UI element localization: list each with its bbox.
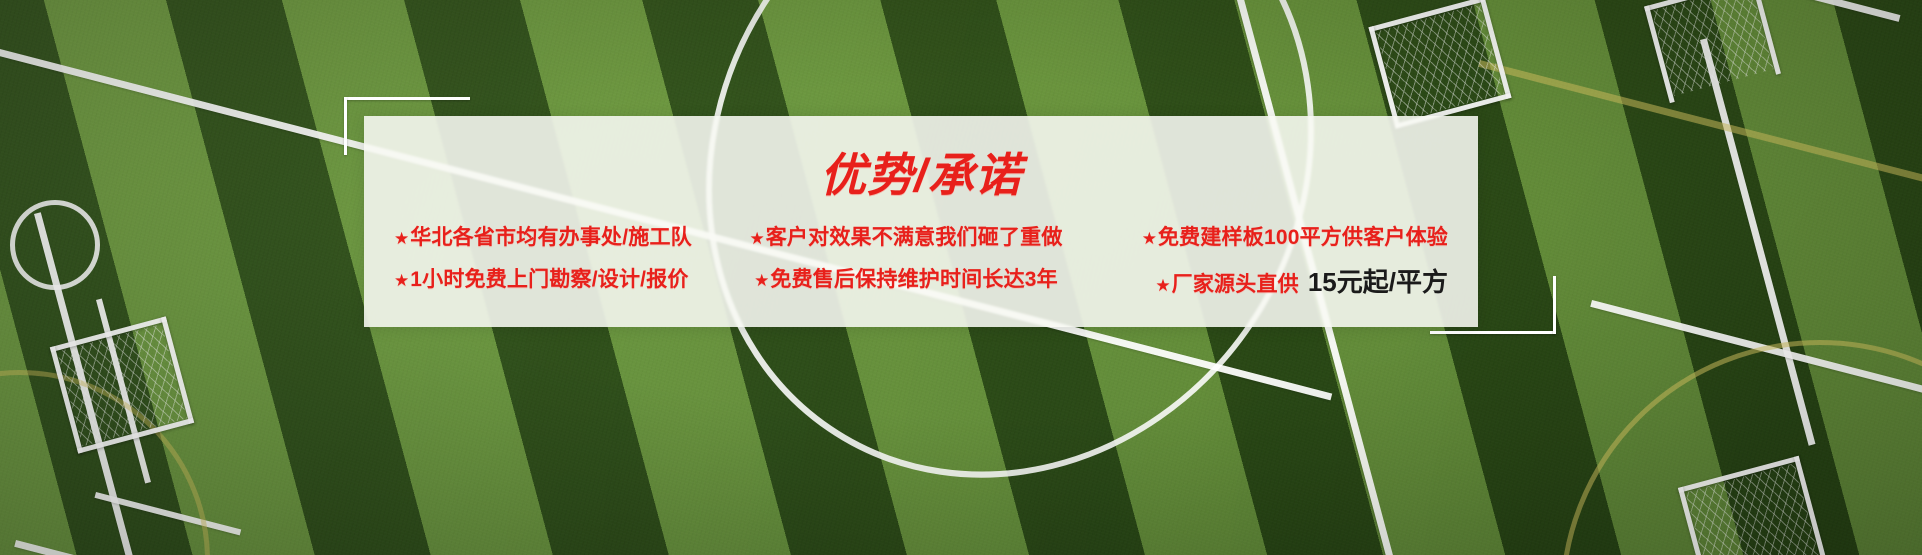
- star-icon: ★: [394, 230, 409, 247]
- star-icon: ★: [394, 272, 409, 289]
- star-icon: ★: [749, 230, 764, 247]
- list-item: ★ 厂家源头直供 15元起/平方: [1155, 268, 1448, 298]
- list-item-label: 客户对效果不满意我们砸了重做: [766, 226, 1063, 250]
- list-item-label: 厂家源头直供: [1172, 273, 1299, 297]
- list-item-label: 免费售后保持维护时间长达3年: [770, 268, 1057, 292]
- price-label: 15元起/平方: [1308, 268, 1448, 298]
- content-panel: 优势/承诺 ★ 华北各省市均有办事处/施工队 ★ 1小时免费上门勘察/设计/报价…: [364, 116, 1478, 327]
- benefits-column-3: ★ 免费建样板100平方供客户体验 ★ 厂家源头直供 15元起/平方: [1118, 226, 1448, 298]
- list-item-label: 1小时免费上门勘察/设计/报价: [410, 268, 688, 292]
- page-title: 优势/承诺: [364, 152, 1478, 198]
- benefits-column-2: ★ 客户对效果不满意我们砸了重做 ★ 免费售后保持维护时间长达3年: [746, 226, 1066, 292]
- panel-inner: 优势/承诺 ★ 华北各省市均有办事处/施工队 ★ 1小时免费上门勘察/设计/报价…: [364, 116, 1478, 327]
- star-icon: ★: [754, 272, 769, 289]
- star-icon: ★: [1155, 277, 1170, 294]
- benefits-column-1: ★ 华北各省市均有办事处/施工队 ★ 1小时免费上门勘察/设计/报价: [394, 226, 694, 292]
- corner-arc: [10, 200, 100, 290]
- list-item: ★ 华北各省市均有办事处/施工队: [394, 226, 692, 250]
- star-icon: ★: [1142, 230, 1157, 247]
- list-item: ★ 客户对效果不满意我们砸了重做: [749, 226, 1062, 250]
- list-item-label: 华北各省市均有办事处/施工队: [410, 226, 692, 250]
- list-item: ★ 免费建样板100平方供客户体验: [1142, 226, 1448, 250]
- benefits-columns: ★ 华北各省市均有办事处/施工队 ★ 1小时免费上门勘察/设计/报价 ★ 客户对…: [364, 226, 1478, 298]
- list-item: ★ 免费售后保持维护时间长达3年: [754, 268, 1058, 292]
- promo-banner: 优势/承诺 ★ 华北各省市均有办事处/施工队 ★ 1小时免费上门勘察/设计/报价…: [0, 0, 1922, 555]
- list-item-label: 免费建样板100平方供客户体验: [1158, 226, 1448, 250]
- list-item: ★ 1小时免费上门勘察/设计/报价: [394, 268, 689, 292]
